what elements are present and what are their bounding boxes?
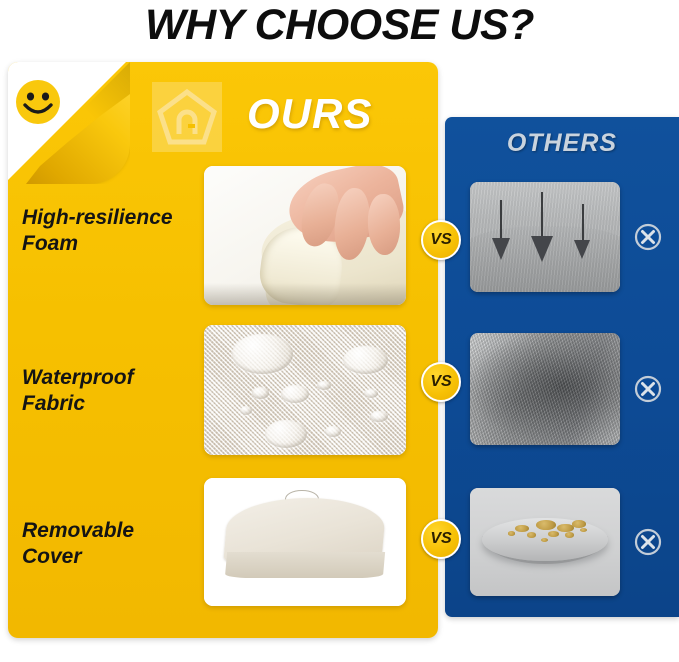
- feature-label-fabric: Waterproof Fabric: [22, 365, 202, 417]
- vs-badge-row-2: VS: [421, 362, 461, 402]
- house-pentagon-logo-icon: [152, 82, 222, 152]
- feature-label-fabric-line1: Waterproof: [22, 366, 134, 389]
- others-heading: OTHERS: [445, 128, 679, 158]
- others-photo-dirty-cushion: [470, 488, 620, 596]
- smiley-face-icon: [14, 78, 62, 126]
- vs-badge-row-1: VS: [421, 220, 461, 260]
- vs-badge-row-3: VS: [421, 519, 461, 559]
- circle-x-icon-row-2: [634, 375, 662, 403]
- feature-label-foam: High-resilience Foam: [22, 205, 202, 257]
- circle-x-icon-row-1: [634, 223, 662, 251]
- feature-label-cover: Removable Cover: [22, 518, 202, 570]
- others-photo-sagging: [470, 182, 620, 292]
- feature-label-cover-line1: Removable: [22, 519, 134, 542]
- ours-photo-waterproof: [204, 325, 406, 455]
- feature-label-cover-line2: Cover: [22, 545, 82, 568]
- page-title: WHY CHOOSE US?: [0, 0, 679, 50]
- ours-photo-removable-cover: [204, 478, 406, 606]
- circle-x-icon-row-3: [634, 528, 662, 556]
- feature-label-foam-line2: Foam: [22, 232, 78, 255]
- others-photo-stained-fabric: [470, 333, 620, 445]
- ours-heading: OURS: [247, 90, 372, 138]
- feature-label-foam-line1: High-resilience: [22, 206, 173, 229]
- ours-photo-foam: [204, 166, 406, 305]
- feature-label-fabric-line2: Fabric: [22, 392, 85, 415]
